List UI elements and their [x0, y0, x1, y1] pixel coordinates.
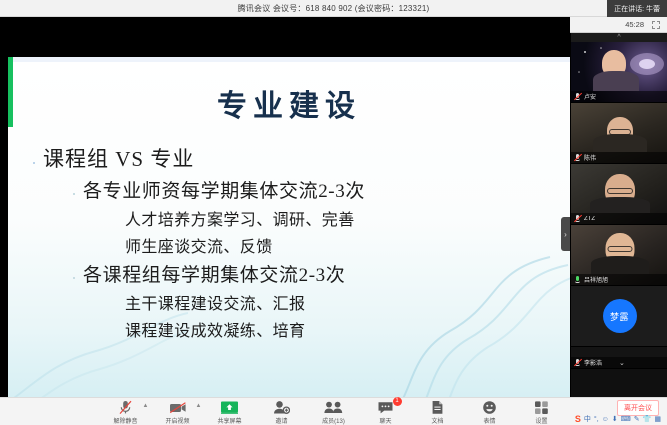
bullet-text: 师生座谈交流、反馈 — [125, 233, 273, 257]
mic-options-caret[interactable]: ▲ — [143, 403, 149, 409]
toolbar-button-settings[interactable]: 设置 — [516, 399, 568, 425]
meeting-window: 腾讯会议 会议号：618 840 902 (会议密码：123321) 正在讲话:… — [0, 0, 667, 425]
bullet-item: 课程组 VS 专业 — [34, 143, 556, 173]
participant-video-rail: ^ 卢安 陈伟 — [570, 33, 667, 397]
chat-bubble-icon — [377, 400, 395, 415]
participant-namebar: 吕祥旭旭 — [571, 274, 667, 285]
sogou-ime-bar[interactable]: S 中 °, ☺ ⬇ ⌨ ✎ 👕 ▦ — [575, 414, 661, 424]
participant-name: ZTZ — [584, 216, 595, 222]
ime-handwriting-icon[interactable]: ✎ — [634, 415, 640, 423]
mic-muted-icon — [574, 93, 581, 101]
screen-share-icon — [220, 400, 239, 415]
bullet-item: 各课程组每学期集体交流2-3次 — [34, 260, 556, 287]
meeting-toolbar: ▲ 解除静音 ▲ 开启视频 — [0, 397, 667, 425]
microphone-muted-icon — [119, 400, 132, 415]
participant-namebar: ZTZ — [571, 213, 667, 224]
document-icon — [431, 400, 444, 415]
participant-name: 李影浩 — [584, 358, 602, 367]
collapse-video-rail-button[interactable]: › — [561, 217, 570, 251]
ime-mode-icon[interactable]: 中 — [584, 414, 591, 424]
invite-person-icon — [273, 400, 290, 415]
mic-active-icon — [574, 276, 581, 284]
bullet-text: 人才培养方案学习、调研、完善 — [125, 206, 355, 230]
bullet-item: 主干课程建设交流、汇报 — [34, 290, 556, 314]
participant-namebar: 卢安 — [571, 91, 667, 102]
toolbar-label: 聊天 — [379, 416, 391, 425]
toolbar-label: 设置 — [535, 416, 547, 425]
ime-toolbox-icon[interactable]: ▦ — [654, 415, 661, 423]
mic-muted-icon — [574, 154, 581, 162]
mic-muted-icon — [574, 215, 581, 223]
participant-name: 吕祥旭旭 — [584, 275, 608, 284]
participant-tile[interactable]: 陈伟 — [571, 103, 667, 164]
toolbar-label: 表情 — [483, 416, 495, 425]
settings-grid-icon — [534, 400, 549, 415]
slide-top-line — [13, 57, 570, 62]
elapsed-time: 45:28 — [625, 20, 644, 29]
bullet-item: 课程建设成效凝练、培育 — [34, 317, 556, 341]
toolbar-button-document[interactable]: 文档 — [412, 399, 464, 425]
bullet-text: 课程建设成效凝练、培育 — [125, 317, 305, 341]
bullet-item: 各专业师资每学期集体交流2-3次 — [34, 176, 556, 203]
members-icon — [324, 400, 343, 415]
ime-download-icon[interactable]: ⬇ — [612, 415, 618, 423]
presentation-slide: 专业建设 课程组 VS 专业 各专业师资每学期集体交流2-3次 人才培养方案学习… — [8, 57, 570, 405]
toolbar-button-unmute[interactable]: ▲ 解除静音 — [100, 399, 152, 425]
participant-tile[interactable]: 吕祥旭旭 — [571, 225, 667, 286]
toolbar-label: 共享屏幕 — [217, 416, 241, 425]
chevron-down-icon[interactable]: ⌄ — [619, 359, 625, 367]
slide-title: 专业建设 — [8, 81, 570, 125]
ime-punctuation-icon[interactable]: °, — [594, 416, 599, 423]
shared-content-stage: 专业建设 课程组 VS 专业 各专业师资每学期集体交流2-3次 人才培养方案学习… — [0, 17, 570, 397]
mic-muted-icon — [574, 359, 581, 367]
participant-name: 陈伟 — [584, 153, 596, 162]
participant-namebar: 陈伟 — [571, 152, 667, 163]
toolbar-button-invite[interactable]: 邀请 — [256, 399, 308, 425]
toolbar-button-share-screen[interactable]: 共享屏幕 — [204, 399, 256, 425]
sogou-logo-icon[interactable]: S — [575, 414, 581, 424]
toolbar-label: 成员(13) — [322, 416, 345, 425]
toolbar-items: ▲ 解除静音 ▲ 开启视频 — [100, 399, 568, 425]
toolbar-label: 解除静音 — [113, 416, 137, 425]
participant-name: 卢安 — [584, 92, 596, 101]
rail-scroll-down-button[interactable]: 李影浩 ⌄ — [571, 357, 667, 368]
toolbar-button-emoji[interactable]: 表情 — [464, 399, 516, 425]
rail-scroll-up-button[interactable]: ^ — [571, 33, 667, 42]
speaking-label: 正在讲话: 牛蕾 — [614, 4, 660, 14]
bullet-item: 师生座谈交流、反馈 — [34, 233, 556, 257]
fullscreen-icon[interactable] — [652, 21, 660, 29]
speaking-indicator: 正在讲话: 牛蕾 — [607, 0, 667, 17]
toolbar-label: 文档 — [431, 416, 443, 425]
ime-emoji-icon[interactable]: ☺ — [602, 416, 609, 423]
video-options-caret[interactable]: ▲ — [196, 403, 202, 409]
bullet-text: 课程组 VS 专业 — [43, 143, 194, 173]
toolbar-label: 邀请 — [275, 416, 287, 425]
participant-tile[interactable]: 李影浩 ⌄ — [571, 347, 667, 369]
toolbar-button-start-video[interactable]: ▲ 开启视频 — [152, 399, 204, 425]
bullet-item: 人才培养方案学习、调研、完善 — [34, 206, 556, 230]
toolbar-button-chat[interactable]: 1 聊天 — [360, 399, 412, 425]
camera-off-icon — [169, 400, 187, 415]
participant-tile[interactable]: ZTZ — [571, 164, 667, 225]
ime-keyboard-icon[interactable]: ⌨ — [621, 415, 631, 423]
meeting-title: 腾讯会议 会议号：618 840 902 (会议密码：123321) — [238, 3, 430, 14]
chat-unread-badge: 1 — [393, 397, 402, 406]
slide-bullet-list: 课程组 VS 专业 各专业师资每学期集体交流2-3次 人才培养方案学习、调研、完… — [34, 141, 556, 341]
bullet-text: 各课程组每学期集体交流2-3次 — [83, 260, 345, 287]
participant-tile[interactable]: 梦露 — [571, 286, 667, 347]
bullet-text: 主干课程建设交流、汇报 — [125, 290, 305, 314]
bullet-text: 各专业师资每学期集体交流2-3次 — [83, 176, 365, 203]
toolbar-label: 开启视频 — [165, 416, 189, 425]
ime-skin-icon[interactable]: 👕 — [643, 415, 652, 423]
window-titlebar: 腾讯会议 会议号：618 840 902 (会议密码：123321) — [0, 0, 667, 17]
emoji-icon — [482, 400, 497, 415]
avatar: 梦露 — [603, 299, 637, 333]
toolbar-button-members[interactable]: 成员(13) — [308, 399, 360, 425]
meeting-timer-bar: 45:28 — [570, 17, 667, 33]
participant-tile[interactable]: 卢安 — [571, 42, 667, 103]
